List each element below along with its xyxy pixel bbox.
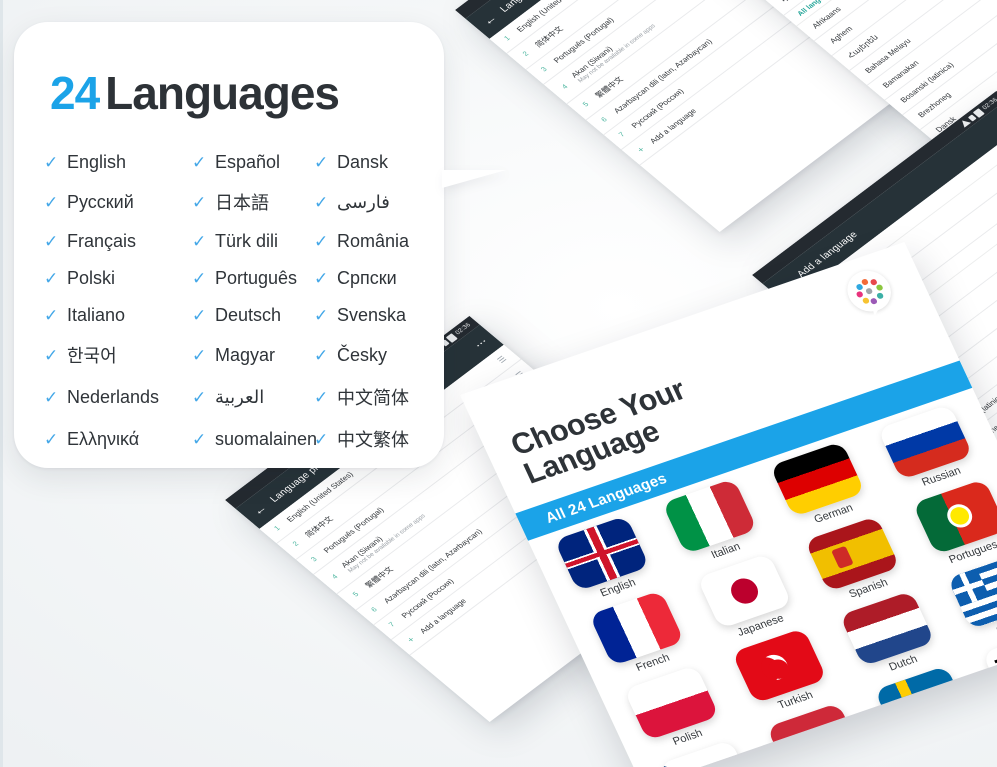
language-name: România (337, 231, 409, 252)
check-icon: ✓ (314, 431, 329, 448)
language-name: Magyar (215, 345, 275, 366)
flag-nl-icon (839, 591, 935, 667)
check-icon: ✓ (192, 307, 207, 324)
row-order-number: 3 (540, 64, 551, 73)
logo-dot (861, 278, 869, 285)
row-order-number: 2 (292, 539, 303, 548)
language-checklist-item: ✓العربية (192, 384, 314, 410)
language-checklist-item: ✓Svenska (314, 305, 424, 326)
check-icon: ✓ (192, 431, 207, 448)
logo-dot (856, 291, 864, 298)
check-icon: ✓ (192, 347, 207, 364)
row-order-number: 2 (522, 49, 533, 58)
logo-dot (865, 288, 873, 295)
flag-it-icon (662, 478, 758, 554)
language-checklist-item: ✓Français (44, 231, 192, 252)
logo-dots (851, 275, 887, 307)
language-checklist-item: ✓فارسی (314, 189, 424, 215)
check-icon: ✓ (192, 194, 207, 211)
speech-bubble-tail (442, 170, 506, 240)
flag-fr-icon (589, 590, 685, 666)
flag-tr-icon (732, 628, 828, 704)
row-order-number: 7 (388, 619, 399, 628)
row-order-number: 1 (273, 523, 284, 532)
language-name: Dansk (337, 152, 388, 173)
logo-dot (876, 292, 884, 299)
language-name: Deutsch (215, 305, 281, 326)
check-icon: ✓ (44, 307, 59, 324)
plus-icon: + (405, 634, 419, 645)
language-name: Nederlands (67, 387, 159, 408)
logo-dot (855, 283, 863, 290)
check-icon: ✓ (192, 270, 207, 287)
language-checklist-item: ✓Dansk (314, 152, 424, 173)
language-name: Česky (337, 345, 387, 366)
language-checklist-item: ✓English (44, 152, 192, 173)
language-name: Polski (67, 268, 115, 289)
language-checklist-item: ✓Türk dili (192, 231, 314, 252)
language-name: Türk dili (215, 231, 278, 252)
logo-dot (875, 284, 883, 291)
language-checklist-item: ✓Deutsch (192, 305, 314, 326)
language-count: 24 (50, 67, 99, 119)
overflow-menu-icon[interactable]: ⋮ (472, 337, 489, 350)
row-order-number: 3 (310, 554, 321, 563)
left-edge-accent (0, 0, 3, 767)
language-name: العربية (215, 387, 264, 408)
language-name: فارسی (337, 192, 390, 213)
language-checklist-item: ✓日本語 (192, 189, 314, 215)
language-name: Español (215, 152, 280, 173)
check-icon: ✓ (192, 389, 207, 406)
row-order-number: 7 (618, 129, 629, 138)
check-icon: ✓ (44, 270, 59, 287)
language-checklist-item: ✓한국어 (44, 342, 192, 368)
language-name: Русский (67, 192, 134, 213)
language-checklist-item: ✓Česky (314, 342, 424, 368)
check-icon: ✓ (314, 347, 329, 364)
row-order-number: 4 (561, 81, 572, 90)
language-checklist-item: ✓Polski (44, 268, 192, 289)
language-checklist-item: ✓suomalainen (192, 426, 314, 452)
check-icon: ✓ (44, 347, 59, 364)
language-name: 日本語 (215, 189, 269, 215)
language-name: Svenska (337, 305, 406, 326)
language-name: 한국어 (67, 342, 117, 368)
language-name: Français (67, 231, 136, 252)
language-checklist: ✓English✓Español✓Dansk✓Русский✓日本語✓فارسی… (44, 152, 416, 452)
check-icon: ✓ (44, 389, 59, 406)
signal-icon (959, 118, 971, 128)
check-icon: ✓ (314, 270, 329, 287)
language-checklist-item: ✓Ελληνικά (44, 426, 192, 452)
poster-canvas: 02:36 ← Language preferences ⋮ 1English … (0, 0, 997, 767)
row-order-number: 1 (503, 33, 514, 42)
plus-icon: + (635, 144, 649, 155)
page-title: 24Languages (50, 70, 339, 116)
back-arrow-icon[interactable]: ← (250, 502, 269, 517)
language-name: English (67, 152, 126, 173)
back-arrow-icon[interactable]: ← (480, 12, 499, 27)
row-order-number: 5 (582, 99, 593, 108)
check-icon: ✓ (314, 389, 329, 406)
row-order-number: 5 (352, 589, 363, 598)
language-name: Italiano (67, 305, 125, 326)
language-name: Português (215, 268, 297, 289)
drag-handle-icon[interactable]: ☰ (496, 355, 508, 365)
check-icon: ✓ (192, 233, 207, 250)
check-icon: ✓ (314, 233, 329, 250)
check-icon: ✓ (44, 233, 59, 250)
language-checklist-item: ✓Српски (314, 268, 424, 289)
page-title-word: Languages (105, 67, 339, 119)
language-name: suomalainen (215, 429, 317, 450)
language-checklist-item: ✓Italiano (44, 305, 192, 326)
language-checklist-item: ✓中文繁体 (314, 426, 424, 452)
check-icon: ✓ (314, 307, 329, 324)
row-order-number: 4 (331, 571, 342, 580)
check-icon: ✓ (314, 194, 329, 211)
flag-pl-icon (624, 665, 720, 741)
check-icon: ✓ (44, 194, 59, 211)
language-checklist-item: ✓Português (192, 268, 314, 289)
language-name: Српски (337, 268, 397, 289)
check-icon: ✓ (314, 154, 329, 171)
language-checklist-item: ✓Magyar (192, 342, 314, 368)
language-checklist-item: ✓Русский (44, 189, 192, 215)
language-name: Ελληνικά (67, 429, 139, 450)
flag-gb-icon (554, 516, 650, 592)
language-name: 中文简体 (337, 384, 409, 410)
logo-dot (862, 297, 870, 304)
speech-bubble-dots-logo (840, 265, 898, 317)
hero-speech-bubble: 24Languages ✓English✓Español✓Dansk✓Русск… (14, 22, 444, 468)
language-checklist-item: ✓Español (192, 152, 314, 173)
language-checklist-item: ✓中文简体 (314, 384, 424, 410)
check-icon: ✓ (44, 154, 59, 171)
language-checklist-item: ✓Nederlands (44, 384, 192, 410)
row-order-number: 6 (600, 115, 611, 124)
language-checklist-item: ✓România (314, 231, 424, 252)
row-order-number: 6 (370, 605, 381, 614)
language-name: 中文繁体 (337, 426, 409, 452)
check-icon: ✓ (192, 154, 207, 171)
check-icon: ✓ (44, 431, 59, 448)
logo-dot (870, 298, 878, 305)
